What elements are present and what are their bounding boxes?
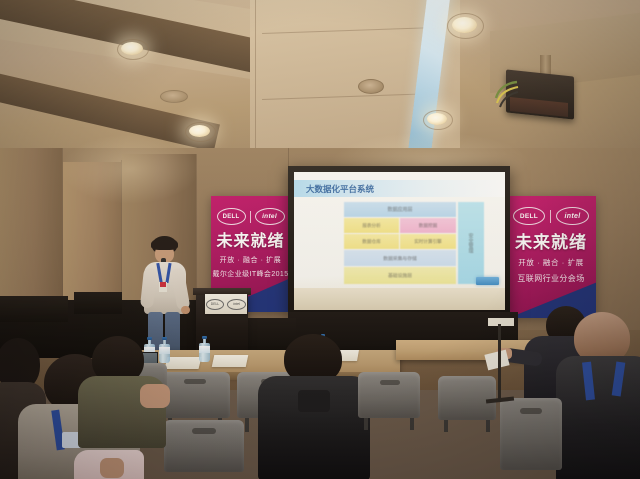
chair [500, 398, 562, 479]
diagram-cell: 数据仓库 [344, 234, 399, 249]
banner-right-subtitle: 开放 · 融合 · 扩展 [506, 257, 596, 268]
paper-sheet [165, 357, 202, 369]
audience-member [258, 334, 370, 479]
podium-dell-intel-sign: DELL intel [205, 294, 247, 314]
chair [358, 372, 420, 430]
slide-title: 大数据化平台系统 [306, 183, 374, 195]
audience-member [78, 336, 166, 446]
conference-room-photo: DELL intel 未来就绪 开放 · 融合 · 扩展 戴尔企业级IT峰会20… [0, 0, 640, 479]
water-bottle [199, 336, 210, 362]
banner-left-subtitle2: 戴尔企业级IT峰会2015 [211, 269, 290, 279]
jacket-collar [298, 390, 330, 412]
diagram-right-column: 安全管理 [458, 202, 484, 284]
badge-accent [160, 282, 166, 287]
paper-sheet [212, 355, 249, 367]
banner-left-subtitle: 开放 · 融合 · 扩展 [211, 255, 290, 265]
easel-pole [498, 324, 501, 402]
dell-logo: DELL [217, 208, 246, 225]
presentation-slide: 大数据化平台系统 数据应用层 安全管理 报表分析 数据挖掘 数据仓库 实时计算引… [294, 172, 505, 310]
projection-screen-surface: 大数据化平台系统 数据应用层 安全管理 报表分析 数据挖掘 数据仓库 实时计算引… [294, 172, 505, 310]
ceiling-speaker-grille [358, 79, 384, 94]
diagram-cell: 报表分析 [344, 218, 399, 233]
dell-logo: DELL [206, 299, 224, 310]
banner-right: DELL intel 未来就绪 开放 · 融合 · 扩展 互联网行业分会场 [506, 196, 596, 318]
intel-logo: intel [556, 207, 589, 225]
flipchart-board [488, 318, 514, 326]
diagram-cell: 数据采集与存储 [344, 250, 456, 266]
stage-drape [0, 296, 68, 322]
dell-logo: DELL [513, 207, 545, 225]
ceiling [0, 0, 640, 152]
presenter-hand [181, 306, 190, 314]
chair [164, 420, 244, 479]
stage-drape [74, 292, 122, 314]
banner-right-subtitle2: 互联网行业分会场 [506, 273, 596, 284]
diagram-header-box: 数据应用层 [344, 202, 456, 217]
chair [438, 376, 496, 432]
diagram-cell: 数据挖掘 [400, 218, 456, 233]
slide-diagram: 数据应用层 安全管理 报表分析 数据挖掘 数据仓库 实时计算引擎 数据采集与存储… [344, 202, 484, 284]
banner-right-title: 未来就绪 [506, 234, 596, 251]
slide-nav-button[interactable] [476, 277, 499, 285]
diagram-cell: 基础设施层 [344, 267, 456, 284]
audience-hand [100, 458, 124, 478]
ceiling-speaker-grille [160, 90, 188, 103]
intel-logo: intel [255, 208, 285, 225]
audience-hand [140, 384, 170, 408]
intel-logo: intel [227, 299, 246, 310]
projector-cables [493, 78, 519, 110]
banner-left-title: 未来就绪 [211, 234, 290, 250]
slide-footer-area [294, 288, 505, 310]
audience-member [556, 312, 640, 479]
diagram-cell: 实时计算引擎 [400, 234, 456, 249]
